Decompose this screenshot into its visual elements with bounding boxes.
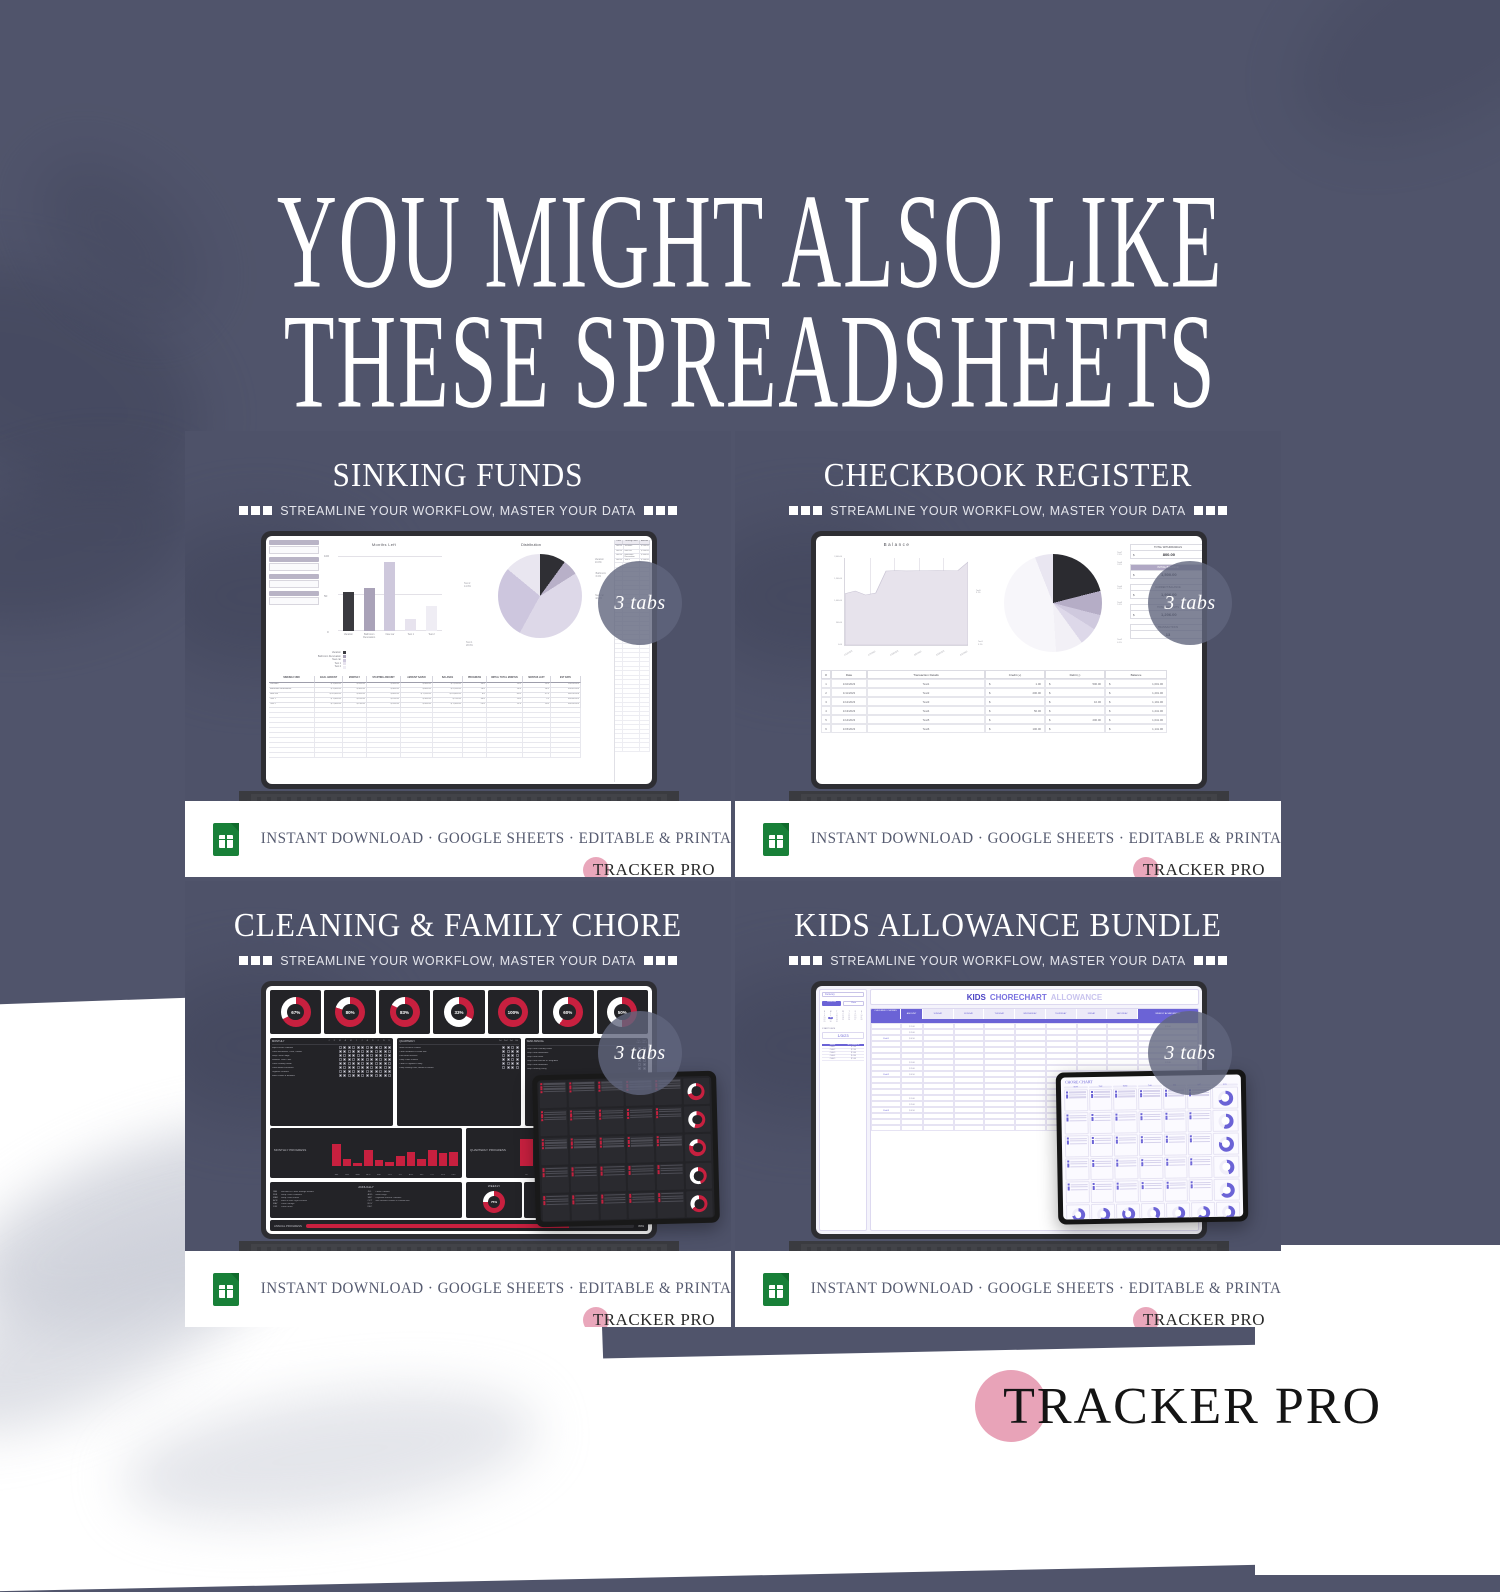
task-line: [543, 1090, 565, 1092]
progress-donut: 60%: [553, 997, 583, 1027]
table-header-cell: MONTHLY: [343, 676, 367, 683]
checkbox[interactable]: [388, 1066, 391, 1069]
table-cell: $: [985, 697, 1045, 706]
tablet-summary-cell: [629, 1220, 656, 1222]
checkbox[interactable]: [370, 1062, 373, 1065]
tablet-cell: [1139, 1157, 1163, 1180]
tablet-cell: [1189, 1156, 1213, 1179]
checkbox[interactable]: [511, 1046, 514, 1049]
leaf-shadow-top-right: [1257, 0, 1500, 190]
clear-button[interactable]: Clear: [843, 1001, 864, 1006]
progress-donut: [1197, 1206, 1210, 1219]
checkbox[interactable]: [370, 1058, 373, 1061]
checkbox[interactable]: [502, 1050, 505, 1053]
checkbox[interactable]: [375, 1046, 378, 1049]
task-dot-icon: [1140, 1095, 1142, 1097]
tablet-task: [1165, 1118, 1185, 1120]
tablet-task: [571, 1174, 596, 1177]
checkbox[interactable]: [388, 1046, 391, 1049]
cell-amount: 200.00: [1092, 716, 1101, 723]
task-dot-icon: [542, 1147, 544, 1149]
mini-cell: Child 1: [822, 1046, 843, 1048]
pie-slice-label: Test 128.0%: [466, 641, 473, 647]
weekly-donut: 75%: [483, 1191, 505, 1213]
tablet-cell: [656, 1135, 683, 1162]
checkbox[interactable]: [361, 1066, 364, 1069]
square-bullet-icon: [1194, 506, 1203, 515]
checkbox[interactable]: [339, 1066, 342, 1069]
card-footer-logo: TRACKER PRO: [1133, 1307, 1265, 1327]
cell-currency: $: [1049, 680, 1051, 687]
checkbox[interactable]: [357, 1062, 360, 1065]
calendar-day[interactable]: [859, 1021, 864, 1023]
checkbox[interactable]: [366, 1074, 369, 1077]
checkbox[interactable]: [357, 1050, 360, 1053]
table-cell: 1/12/2023: [831, 697, 867, 706]
checkbox[interactable]: [352, 1062, 355, 1065]
checkbox[interactable]: [366, 1070, 369, 1073]
checkbox[interactable]: [379, 1054, 382, 1057]
tablet-task: [1140, 1095, 1160, 1097]
calendar-week: 293031: [822, 1021, 864, 1023]
checkbox[interactable]: [511, 1066, 514, 1069]
checkbox[interactable]: [339, 1050, 342, 1053]
checkbox[interactable]: [361, 1046, 364, 1049]
task-dot-icon: [1067, 1120, 1069, 1122]
checkbox-group: [502, 1066, 519, 1069]
sidebar-value: [269, 546, 319, 554]
day-cell[interactable]: [984, 1125, 1015, 1131]
transactions-table-header: #DateTransaction DetailsCredit (+)Debit …: [821, 670, 1197, 679]
tablet-cell: [540, 1110, 567, 1137]
checkbox[interactable]: [516, 1046, 519, 1049]
checkbox[interactable]: [361, 1074, 364, 1077]
column-subheader: A: [365, 1040, 369, 1043]
checkbox[interactable]: [370, 1050, 373, 1053]
checkbox[interactable]: [384, 1066, 387, 1069]
card-footer: INSTANT DOWNLOAD · GOOGLE SHEETS · EDITA…: [735, 1251, 1281, 1327]
square-bullet-icon: [668, 956, 677, 965]
product-card-sinking-funds[interactable]: SINKING FUNDS STREAMLINE YOUR WORKFLOW, …: [185, 431, 731, 877]
task-line: [1069, 1097, 1086, 1098]
checkbox[interactable]: [502, 1046, 505, 1049]
tablet-summary-cell: [1191, 1202, 1215, 1219]
column-subheader: F: [332, 1040, 336, 1043]
table-cell: [523, 753, 551, 758]
checkbox[interactable]: [352, 1046, 355, 1049]
checkbox[interactable]: [339, 1074, 342, 1077]
task-line: [662, 1200, 684, 1202]
calendar-day[interactable]: 29: [822, 1021, 827, 1023]
task-dot-icon: [571, 1175, 573, 1177]
checkbox[interactable]: [352, 1070, 355, 1073]
checkbox[interactable]: [375, 1058, 378, 1061]
task-line: [659, 1116, 681, 1118]
tablet-task: [599, 1145, 624, 1148]
checkbox[interactable]: [343, 1058, 346, 1061]
start-date-label: START DATE: [822, 1028, 864, 1030]
task-line: [1193, 1117, 1210, 1118]
checkbox[interactable]: [361, 1054, 364, 1057]
checkbox[interactable]: [375, 1066, 378, 1069]
tablet-cell: [1113, 1088, 1137, 1111]
brand-name: TRACKER PRO: [1003, 1377, 1382, 1436]
page-title-line-2: THESE SPREADSHEETS: [150, 296, 1350, 428]
checklist-label: Clean & Organize Pantry: [399, 1063, 502, 1065]
checklist-label: Wash Duvets & Pillows: [399, 1047, 502, 1049]
checkbox[interactable]: [502, 1054, 505, 1057]
checkbox[interactable]: [388, 1058, 391, 1061]
monthly-progress-bars: [332, 1132, 458, 1166]
checkbox[interactable]: [507, 1050, 510, 1053]
checkbox[interactable]: [384, 1046, 387, 1049]
task-line: [1094, 1096, 1111, 1097]
sidebar-header: [269, 540, 319, 545]
tablet-donut-cell: [1212, 1110, 1238, 1133]
annual-task: Clean Shed: [281, 1206, 365, 1208]
checkbox[interactable]: [388, 1070, 391, 1073]
checkbox[interactable]: [507, 1062, 510, 1065]
checkbox[interactable]: [343, 1046, 346, 1049]
card-footer-logo: TRACKER PRO: [1133, 857, 1265, 877]
checkbox[interactable]: [516, 1054, 519, 1057]
checkbox[interactable]: [361, 1050, 364, 1053]
checkbox[interactable]: [384, 1054, 387, 1057]
tablet-cell: [1140, 1180, 1164, 1203]
table-cell: 3: [821, 697, 831, 706]
calendar-day[interactable]: [840, 1021, 845, 1023]
annual-month: NOV: [368, 1203, 373, 1205]
checkbox[interactable]: [516, 1066, 519, 1069]
monthly-progress-labels: JANFEBMARAPRMAYJUNJULAUGSEPOCTNOVDEC: [332, 1174, 458, 1176]
checkbox[interactable]: [366, 1058, 369, 1061]
checkbox[interactable]: [511, 1062, 514, 1065]
annual-task: Declutter & Clean Storage Rooms: [281, 1191, 365, 1193]
tablet-task: [1141, 1141, 1161, 1143]
checklist-row: Clean Laundry Room: [272, 1062, 391, 1065]
checkbox[interactable]: [511, 1054, 514, 1057]
x-tick-labels: 1/12/20232/7/20232/19/20233/5/20233/19/2…: [844, 655, 968, 657]
mini-cell: $ 2.00: [843, 1049, 864, 1051]
tablet-donut-cell: [685, 1162, 712, 1189]
checkbox[interactable]: [348, 1058, 351, 1061]
tablet-donut-cell: [686, 1191, 713, 1218]
task-dot-icon: [1067, 1166, 1069, 1168]
checkbox[interactable]: [507, 1066, 510, 1069]
tablet-chore-grid: MONTUEWEDTHUFRISATACH: [1064, 1083, 1240, 1216]
tablet-summary-row: [1066, 1202, 1240, 1220]
table-cell: Test5: [867, 715, 985, 724]
checkbox[interactable]: [507, 1058, 510, 1061]
checkbox[interactable]: [370, 1066, 373, 1069]
table-cell: 1/13/2023: [831, 706, 867, 715]
card-footer: INSTANT DOWNLOAD · GOOGLE SHEETS · EDITA…: [185, 1251, 731, 1327]
checkbox[interactable]: [502, 1066, 505, 1069]
side-cell: [640, 748, 650, 753]
checkbox[interactable]: [348, 1050, 351, 1053]
checkbox[interactable]: [357, 1046, 360, 1049]
checkbox[interactable]: [352, 1054, 355, 1057]
table-cell: 4: [821, 706, 831, 715]
task-line: [1119, 1142, 1136, 1143]
grid-header-cell: MONDAY: [954, 1009, 985, 1019]
x-tick: 4/1/2023: [960, 651, 968, 657]
reset-all-button[interactable]: Reset All: [822, 1001, 841, 1006]
checkbox[interactable]: [339, 1058, 342, 1061]
annual-month: FEB: [273, 1194, 278, 1196]
checkbox[interactable]: [366, 1050, 369, 1053]
donut-cell: 33%: [433, 990, 484, 1034]
cell-amount: 10.00: [1094, 698, 1101, 705]
checkbox[interactable]: [375, 1074, 378, 1077]
currency-dropdown[interactable]: Currency: [822, 992, 864, 997]
task-dot-icon: [543, 1175, 545, 1177]
tablet-task: [1117, 1165, 1137, 1167]
checkbox[interactable]: [366, 1062, 369, 1065]
checkbox[interactable]: [361, 1070, 364, 1073]
x-tick: 2/7/2023: [868, 651, 876, 657]
column-subheader: J: [360, 1040, 364, 1043]
cell-currency: $: [989, 716, 991, 723]
tablet-task: [658, 1172, 683, 1175]
calendar-day[interactable]: 31: [834, 1021, 839, 1023]
tablet-summary-cell: [1216, 1202, 1240, 1220]
checkbox[interactable]: [384, 1062, 387, 1065]
checkbox[interactable]: [384, 1074, 387, 1077]
checkbox[interactable]: [357, 1070, 360, 1073]
calendar-day[interactable]: 30: [828, 1021, 833, 1023]
checkbox[interactable]: [379, 1066, 382, 1069]
tablet-task: [1068, 1189, 1088, 1191]
checkbox[interactable]: [343, 1074, 346, 1077]
checkbox[interactable]: [357, 1054, 360, 1057]
calendar-day[interactable]: [847, 1021, 852, 1023]
bar: [332, 1144, 341, 1166]
checkbox[interactable]: [516, 1062, 519, 1065]
checkbox[interactable]: [357, 1066, 360, 1069]
checkbox[interactable]: [379, 1058, 382, 1061]
card-tagline-text: STREAMLINE YOUR WORKFLOW, MASTER YOUR DA…: [280, 954, 636, 968]
checkbox[interactable]: [516, 1050, 519, 1053]
checkbox[interactable]: [507, 1054, 510, 1057]
pie-label-pct: 4.1%: [1117, 588, 1122, 590]
table-row: 31/12/2023Test3$$10.00$1,191.00: [821, 697, 1197, 706]
x-tick-labels: VacationBathroom RenovationNew carTest 1…: [338, 633, 442, 639]
annual-section-header: ANNUALLY: [273, 1185, 459, 1189]
weekly-label: WEEKLY: [466, 1184, 522, 1188]
progress-donut: [1222, 1206, 1235, 1219]
checkbox[interactable]: [375, 1070, 378, 1073]
tablet-task: [599, 1117, 624, 1120]
x-tick: Test 2: [424, 633, 440, 639]
tablet-mockup: CHORE CHART MONTUEWEDTHUFRISATACH: [1056, 1069, 1249, 1224]
checkbox-group: [502, 1054, 519, 1057]
task-dot-icon: [1142, 1188, 1144, 1190]
checkbox[interactable]: [388, 1062, 391, 1065]
table-cell: [315, 753, 343, 758]
tablet-task: [1091, 1096, 1111, 1098]
checkbox-group: [339, 1054, 392, 1057]
card-footer-logo: TRACKER PRO: [583, 1307, 715, 1327]
product-card-kids-allowance-bundle[interactable]: KIDS ALLOWANCE BUNDLE STREAMLINE YOUR WO…: [735, 881, 1281, 1327]
cell-amount: 1,001.00: [1152, 680, 1163, 687]
pie-slice-label: Bathroom6.0%: [596, 572, 606, 578]
checkbox[interactable]: [375, 1050, 378, 1053]
legend-label: Test 2: [335, 665, 341, 669]
tablet-task: [1141, 1118, 1161, 1120]
column-subheader: 4th: [515, 1040, 519, 1043]
tablet-cell: [1114, 1134, 1138, 1157]
checkbox[interactable]: [352, 1074, 355, 1077]
day-cell[interactable]: [954, 1125, 985, 1131]
checkbox[interactable]: [502, 1062, 505, 1065]
grid-header-cell: CHILDREN / CHORES: [871, 1009, 901, 1019]
pie-chart: Test72.1%Test63.1%Test44.1%Test35.1%Test…: [976, 544, 1126, 662]
bar-chart: Months Left 100 50 0 VacationBathroom Re…: [324, 542, 444, 647]
table-cell: $1,141.00: [1105, 724, 1167, 733]
checklist-row: Deep Clean Freezer: [399, 1058, 518, 1061]
checkbox-group: [339, 1046, 392, 1049]
checkbox[interactable]: [375, 1054, 378, 1057]
checkbox-group: [339, 1066, 392, 1069]
tablet-cell: [539, 1082, 566, 1109]
tablet-task: [1091, 1119, 1111, 1121]
checkbox[interactable]: [507, 1046, 510, 1049]
checkbox[interactable]: [339, 1054, 342, 1057]
checkbox[interactable]: [388, 1054, 391, 1057]
calendar-widget[interactable]: SMTWTFS123456789101112131415161718192021…: [822, 1011, 864, 1023]
checkbox[interactable]: [379, 1046, 382, 1049]
checkbox[interactable]: [343, 1062, 346, 1065]
tablet-donut-cell: [683, 1078, 710, 1105]
checkbox[interactable]: [348, 1066, 351, 1069]
table-cell: 1/10/2023: [831, 679, 867, 688]
checkbox[interactable]: [366, 1046, 369, 1049]
donut-hole: [1175, 1210, 1182, 1217]
start-date-value: 1/3/23: [822, 1032, 864, 1039]
checkbox[interactable]: [352, 1058, 355, 1061]
summary-sidebar: [269, 540, 319, 605]
annual-month: JUN: [273, 1206, 278, 1208]
day-cell[interactable]: [923, 1125, 954, 1131]
task-line: [574, 1174, 596, 1176]
brand-logo: TRACKER PRO: [975, 1370, 1382, 1442]
product-card-cleaning-family-chore[interactable]: CLEANING & FAMILY CHORE STREAMLINE YOUR …: [185, 881, 731, 1327]
card-footer-text: INSTANT DOWNLOAD · GOOGLE SHEETS · EDITA…: [811, 830, 1281, 848]
column-subheader: J: [327, 1040, 331, 1043]
tablet-row: [1065, 1133, 1239, 1158]
donut-hole: [1200, 1210, 1207, 1217]
checkbox[interactable]: [502, 1058, 505, 1061]
checkbox[interactable]: [348, 1070, 351, 1073]
checkbox[interactable]: [388, 1050, 391, 1053]
checkbox[interactable]: [357, 1074, 360, 1077]
bar-label: SEP: [417, 1174, 426, 1176]
tablet-task: [572, 1202, 597, 1205]
checkbox[interactable]: [361, 1062, 364, 1065]
checkbox[interactable]: [348, 1046, 351, 1049]
checkbox[interactable]: [384, 1058, 387, 1061]
table-cell: Test3: [867, 697, 985, 706]
calendar-day[interactable]: [853, 1021, 858, 1023]
checkbox[interactable]: [348, 1074, 351, 1077]
cell-currency: $: [1049, 698, 1051, 705]
product-card-checkbook-register[interactable]: CHECKBOOK REGISTER STREAMLINE YOUR WORKF…: [735, 431, 1281, 877]
checkbox[interactable]: [352, 1050, 355, 1053]
checkbox[interactable]: [511, 1058, 514, 1061]
grid-header-cell: THURSDAY: [1046, 1009, 1077, 1019]
checkbox[interactable]: [370, 1074, 373, 1077]
checkbox[interactable]: [384, 1050, 387, 1053]
checkbox[interactable]: [339, 1070, 342, 1073]
sidebar-value: [269, 563, 319, 571]
checkbox[interactable]: [388, 1074, 391, 1077]
progress-donut: [1218, 1136, 1233, 1151]
task-line: [545, 1147, 567, 1149]
legend-swatch: [343, 666, 346, 669]
checkbox[interactable]: [361, 1058, 364, 1061]
checkbox[interactable]: [370, 1046, 373, 1049]
cell-currency: $: [1049, 716, 1051, 723]
checkbox[interactable]: [343, 1050, 346, 1053]
donut-value: 83%: [396, 1004, 413, 1021]
y-tick: 500.00: [836, 622, 842, 624]
checkbox[interactable]: [343, 1054, 346, 1057]
table-cell: [401, 753, 433, 758]
checkbox[interactable]: [357, 1058, 360, 1061]
task-line: [1071, 1189, 1088, 1190]
checkbox[interactable]: [375, 1062, 378, 1065]
table-header-cell: STARTING AMOUNT: [367, 676, 401, 683]
tablet-summary-cell: [658, 1220, 685, 1223]
day-cell[interactable]: [1015, 1125, 1046, 1131]
checkbox[interactable]: [370, 1070, 373, 1073]
task-line: [1169, 1187, 1186, 1188]
checkbox[interactable]: [379, 1074, 382, 1077]
task-dot-icon: [1068, 1189, 1070, 1191]
checkbox[interactable]: [370, 1054, 373, 1057]
checkbox[interactable]: [348, 1054, 351, 1057]
task-dot-icon: [1115, 1096, 1117, 1098]
checkbox[interactable]: [379, 1062, 382, 1065]
checkbox[interactable]: [339, 1062, 342, 1065]
tablet-task: [542, 1146, 567, 1149]
checkbox[interactable]: [343, 1070, 346, 1073]
progress-donut: [1172, 1207, 1185, 1220]
checkbox[interactable]: [516, 1058, 519, 1061]
checkbox[interactable]: [366, 1054, 369, 1057]
square-bullet-icon: [1194, 956, 1203, 965]
checkbox[interactable]: [348, 1062, 351, 1065]
card-footer-logo: TRACKER PRO: [583, 857, 715, 877]
checklist-label: Clean Windows & Divide Sills: [399, 1051, 502, 1053]
checklist-label: Wipe Kitchen Cabinets: [272, 1047, 339, 1049]
checkbox[interactable]: [384, 1070, 387, 1073]
task-line: [602, 1117, 624, 1119]
checkbox[interactable]: [343, 1066, 346, 1069]
checkbox[interactable]: [352, 1066, 355, 1069]
checkbox[interactable]: [379, 1070, 382, 1073]
checkbox[interactable]: [366, 1066, 369, 1069]
pie-label-pct: 3.1%: [1117, 564, 1122, 566]
tablet-task: [1092, 1165, 1112, 1167]
table-cell: $1,191.00: [1105, 697, 1167, 706]
checkbox[interactable]: [511, 1050, 514, 1053]
legend-swatch: [343, 655, 346, 658]
checkbox[interactable]: [379, 1050, 382, 1053]
checkbox[interactable]: [339, 1046, 342, 1049]
grid-header-cell: SATURDAY: [1107, 1009, 1138, 1019]
